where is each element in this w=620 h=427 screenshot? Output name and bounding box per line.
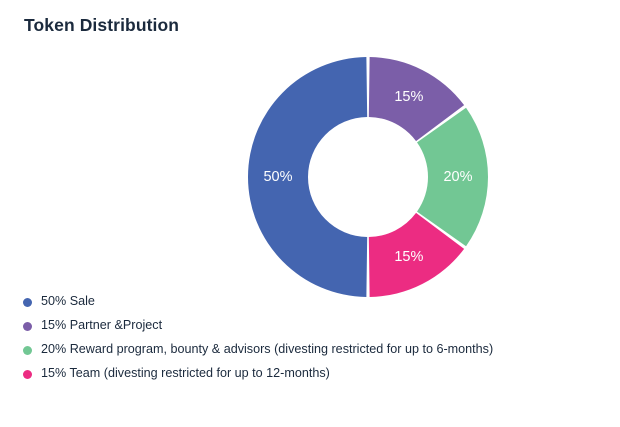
- legend-item[interactable]: 15% Team (divesting restricted for up to…: [23, 362, 603, 386]
- page-title: Token Distribution: [24, 15, 179, 36]
- donut-slice-data-label: 50%: [263, 169, 292, 185]
- legend-color-swatch-icon: [23, 346, 32, 355]
- legend-color-swatch-icon: [23, 370, 32, 379]
- donut-chart-svg: 15%20%15%50%: [248, 57, 488, 297]
- legend-color-swatch-icon: [23, 322, 32, 331]
- legend-item-label: 15% Partner &Project: [41, 319, 162, 333]
- donut-slice-data-label: 20%: [443, 169, 472, 185]
- legend-color-swatch-icon: [23, 298, 32, 307]
- donut-chart: 15%20%15%50%: [248, 57, 488, 297]
- legend-item[interactable]: 20% Reward program, bounty & advisors (d…: [23, 338, 603, 362]
- legend-item-label: 20% Reward program, bounty & advisors (d…: [41, 343, 493, 357]
- donut-slice-data-label: 15%: [394, 89, 423, 105]
- legend-item[interactable]: 15% Partner &Project: [23, 314, 603, 338]
- legend-item-label: 15% Team (divesting restricted for up to…: [41, 367, 330, 381]
- legend-item-label: 50% Sale: [41, 295, 95, 309]
- chart-legend: 50% Sale15% Partner &Project20% Reward p…: [23, 290, 603, 386]
- token-distribution-chart-card: Token Distribution 15%20%15%50% 50% Sale…: [0, 0, 620, 427]
- legend-item[interactable]: 50% Sale: [23, 290, 603, 314]
- donut-slice-data-label: 15%: [394, 249, 423, 265]
